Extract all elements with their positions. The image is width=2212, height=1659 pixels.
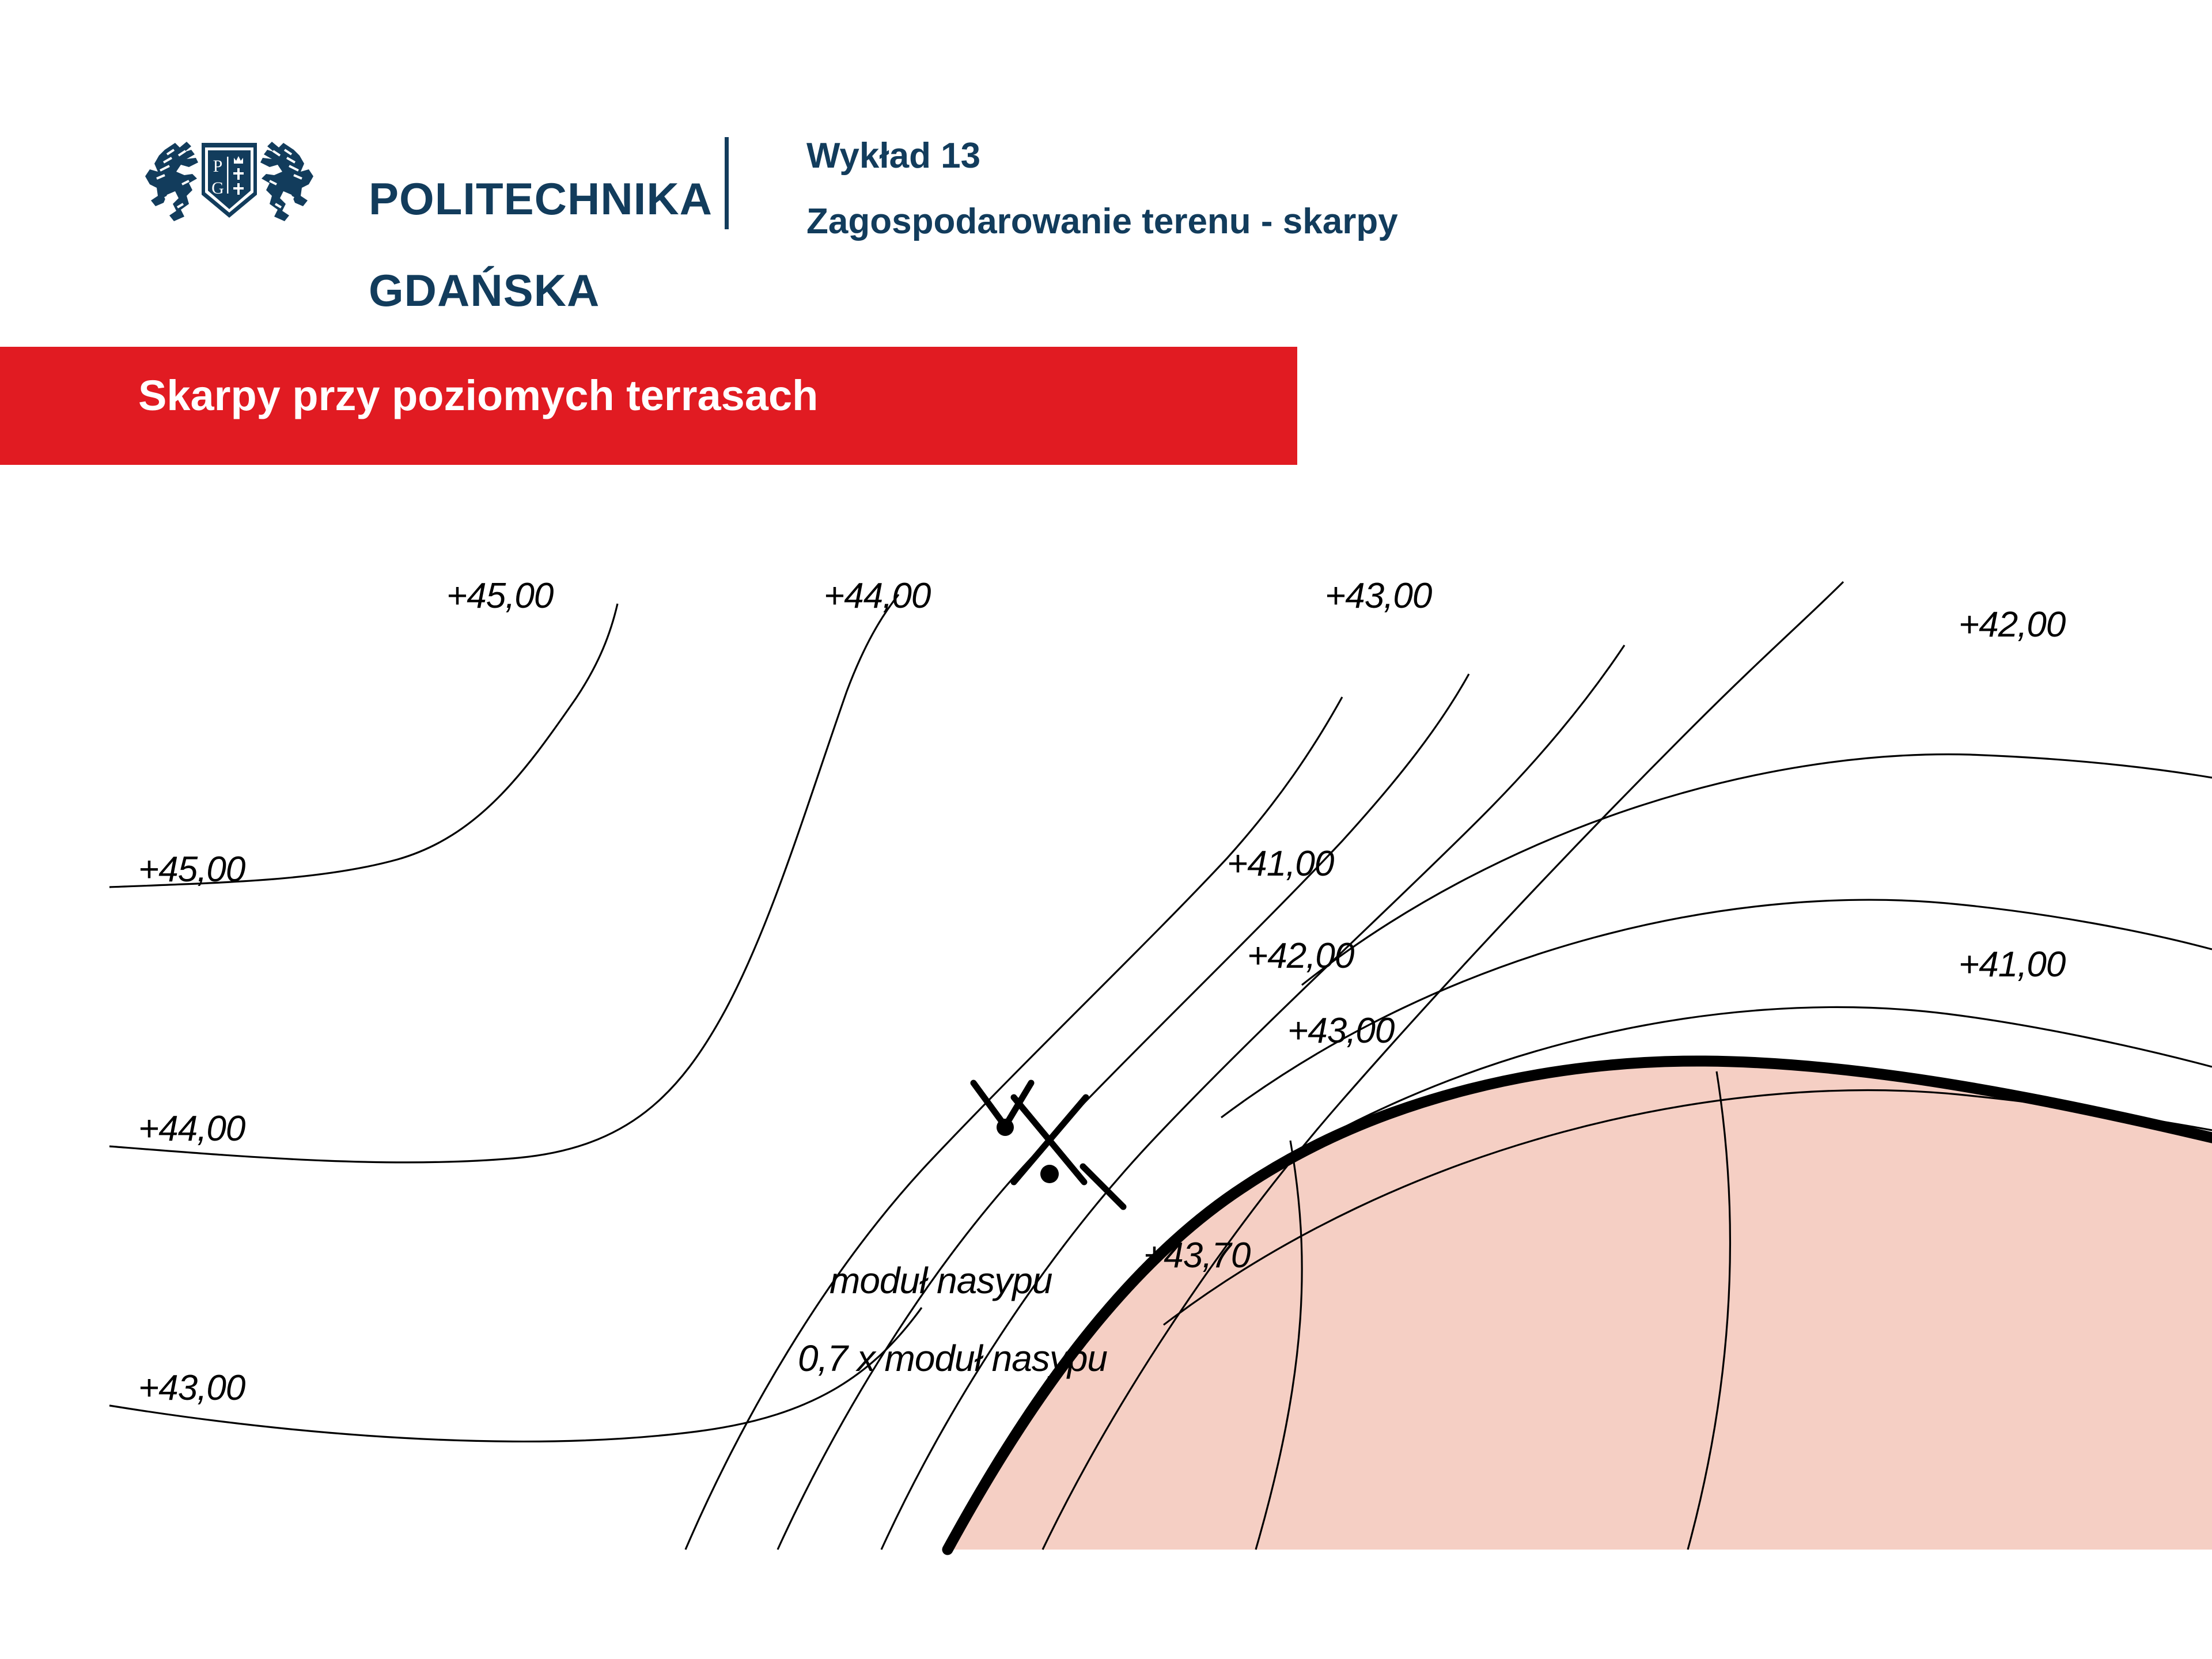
contour-label-top-43: +43,00 xyxy=(1325,576,1432,616)
contour-label-top-42: +42,00 xyxy=(1959,605,2066,645)
section-banner: Skarpy przy poziomych terrasach xyxy=(0,347,1297,465)
contour-label-mid-42: +42,00 xyxy=(1247,936,1354,976)
contour-label-left-44: +44,00 xyxy=(138,1109,245,1149)
annotation-modul-nasypu-07: 0,7 x moduł nasypu xyxy=(798,1338,1107,1379)
contour-label-left-43: +43,00 xyxy=(138,1368,245,1408)
module-dimension-ticks xyxy=(974,1083,1123,1207)
spot-height-label: +43,70 xyxy=(1143,1236,1251,1275)
contour-map-svg: +45,00 +44,00 +43,00 +42,00 +45,00 +44,0… xyxy=(0,507,2212,1659)
shield-letter-p: P xyxy=(213,157,223,176)
contours-left xyxy=(109,594,922,1441)
contour-label-right-41: +41,00 xyxy=(1959,945,2066,984)
contour-line xyxy=(109,604,618,887)
contour-label-left-45: +45,00 xyxy=(138,850,245,889)
contour-label-top-44: +44,00 xyxy=(824,576,931,616)
politechnika-gdanska-logo: P G xyxy=(131,122,327,232)
wordmark-line-1: POLITECHNIKA xyxy=(369,176,713,222)
tick-mark xyxy=(1083,1166,1123,1207)
terrace-platform xyxy=(948,1061,2212,1550)
lecture-number: Wykład 13 xyxy=(806,138,1398,174)
point-dot xyxy=(1040,1165,1059,1183)
contour-line xyxy=(1302,754,2212,985)
page-header: P G POLITECHNIKA GDAŃSKA Wykład 13 Zagos… xyxy=(0,0,2212,323)
university-wordmark: POLITECHNIKA GDAŃSKA xyxy=(369,130,713,359)
contour-label-mid-41: +41,00 xyxy=(1227,844,1334,884)
contour-label-top-45: +45,00 xyxy=(446,576,554,616)
header-title-block: Wykład 13 Zagospodarowanie terenu - skar… xyxy=(806,138,1398,240)
terrain-contour-drawing: +45,00 +44,00 +43,00 +42,00 +45,00 +44,0… xyxy=(0,507,2212,1659)
annotation-modul-nasypu: moduł nasypu xyxy=(829,1260,1052,1301)
dimension-point-dots xyxy=(997,1119,1059,1183)
module-annotation-group: moduł nasypu 0,7 x moduł nasypu xyxy=(798,1260,1107,1379)
logo-crest-icon: P G xyxy=(131,122,327,232)
banner-title: Skarpy przy poziomych terrasach xyxy=(138,374,818,417)
terrace-fill xyxy=(948,1061,2212,1550)
point-dot xyxy=(997,1119,1014,1136)
wordmark-line-2: GDAŃSKA xyxy=(369,268,713,314)
header-divider xyxy=(725,137,729,229)
lecture-title: Zagospodarowanie terenu - skarpy xyxy=(806,204,1398,240)
contour-label-mid-43: +43,00 xyxy=(1287,1011,1395,1051)
shield-letter-g: G xyxy=(211,179,224,198)
